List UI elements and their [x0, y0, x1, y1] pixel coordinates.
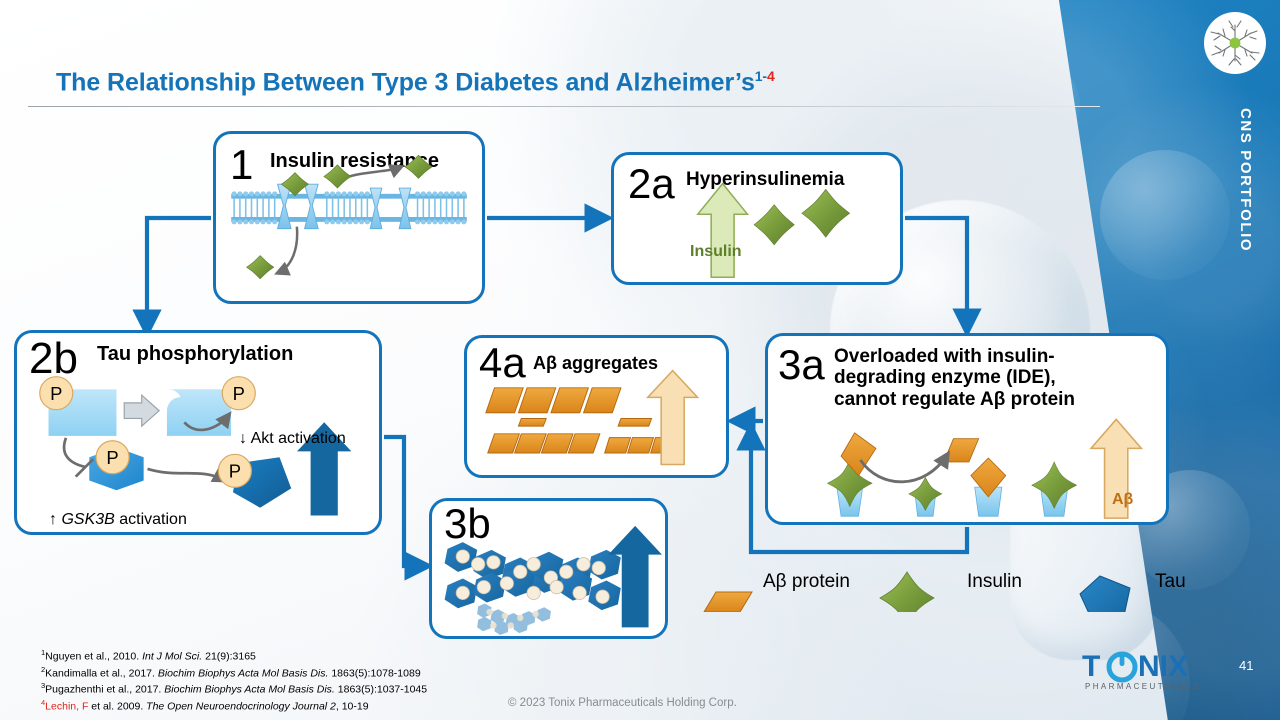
legend-icon-abeta: [704, 592, 752, 612]
ref-tail: 1863(5):1078-1089: [328, 667, 420, 679]
ref-journal: Biochim Biophys Acta Mol Basis Dis.: [158, 667, 329, 679]
legend-icon-tau: [1080, 576, 1130, 612]
reference-item: 2Kandimalla et al., 2017. Biochim Biophy…: [41, 665, 427, 682]
abeta-aggregates-graphic: [467, 338, 726, 475]
tonix-logo-mark: T NIX PHARMACEUTICALS: [1082, 648, 1218, 694]
reference-item: 3Pugazhenthi et al., 2017. Biochim Bioph…: [41, 681, 427, 698]
ref-tail: 21(9):3165: [202, 651, 256, 663]
ref-text: Nguyen et al., 2010.: [45, 651, 142, 663]
ref-tail: 1863(5):1037-1045: [335, 684, 427, 696]
reference-item: 4Lechin, F et al. 2009. The Open Neuroen…: [41, 698, 427, 715]
svg-text:P: P: [50, 383, 62, 404]
ref-author: Lechin, F: [45, 701, 88, 713]
box-ide-overload[interactable]: 3a Overloaded with insulin- degrading en…: [765, 333, 1169, 525]
ref-text: Kandimalla et al., 2017.: [45, 667, 158, 679]
ref-text: Pugazhenthi et al., 2017.: [45, 684, 164, 696]
gsk-suffix: activation: [115, 511, 187, 528]
svg-text:PHARMACEUTICALS: PHARMACEUTICALS: [1085, 682, 1200, 691]
box-insulin-resistance[interactable]: 1 Insulin resistance: [213, 131, 485, 304]
arrow-2b-to-3b: [384, 437, 427, 566]
box-tau-tangles[interactable]: 3b: [429, 498, 668, 639]
ref-journal: Biochim Biophys Acta Mol Basis Dis.: [164, 684, 335, 696]
box-tau-phosphorylation[interactable]: 2b Tau phosphorylation: [14, 330, 382, 535]
slide-canvas: CNS PORTFOLIO The Relationship Between T…: [0, 0, 1280, 720]
legend-label-abeta: Aβ protein: [763, 571, 850, 593]
ref-journal: Int J Mol Sci.: [142, 651, 202, 663]
svg-text:P: P: [233, 383, 245, 404]
legend-label-tau: Tau: [1155, 571, 1186, 593]
gsk-prefix: ↑: [49, 511, 61, 528]
legend-icon-insulin: [880, 572, 934, 612]
tau-tangles-graphic: [432, 501, 665, 636]
arrow-2a-to-3a: [905, 218, 967, 331]
cell-membrane-graphic: [216, 134, 482, 301]
box-abeta-aggregates[interactable]: 4a Aβ aggregates: [464, 335, 729, 478]
references-list: 1Nguyen et al., 2010. Int J Mol Sci. 21(…: [41, 648, 427, 715]
svg-text:P: P: [106, 447, 118, 468]
ref-tail: , 10-19: [336, 701, 369, 713]
ide-overload-graphic: [768, 336, 1166, 522]
box-hyperinsulinemia[interactable]: 2a Hyperinsulinemia Insulin: [611, 152, 903, 285]
akt-activation-label: ↓ Akt activation: [239, 430, 346, 448]
svg-text:NIX: NIX: [1138, 650, 1188, 683]
ref-journal: The Open Neuroendocrinology Journal 2: [146, 701, 336, 713]
abeta-label: Aβ: [1112, 491, 1133, 509]
gsk3b-activation-label: ↑ GSK3B activation: [49, 511, 187, 529]
insulin-label: Insulin: [690, 243, 742, 261]
svg-text:T: T: [1082, 650, 1100, 683]
gsk-gene: GSK3B: [61, 511, 114, 528]
copyright-text: © 2023 Tonix Pharmaceuticals Holding Cor…: [508, 697, 737, 709]
reference-item: 1Nguyen et al., 2010. Int J Mol Sci. 21(…: [41, 648, 427, 665]
legend: Aβ protein Insulin Tau: [700, 556, 1200, 612]
hyperinsulinemia-graphic: [614, 155, 900, 282]
ref-text: et al. 2009.: [88, 701, 146, 713]
svg-text:P: P: [229, 461, 241, 482]
arrow-1-to-2b: [147, 218, 211, 332]
page-number: 41: [1239, 658, 1253, 673]
tonix-logo: T NIX PHARMACEUTICALS: [1082, 648, 1218, 694]
legend-label-insulin: Insulin: [967, 571, 1022, 593]
